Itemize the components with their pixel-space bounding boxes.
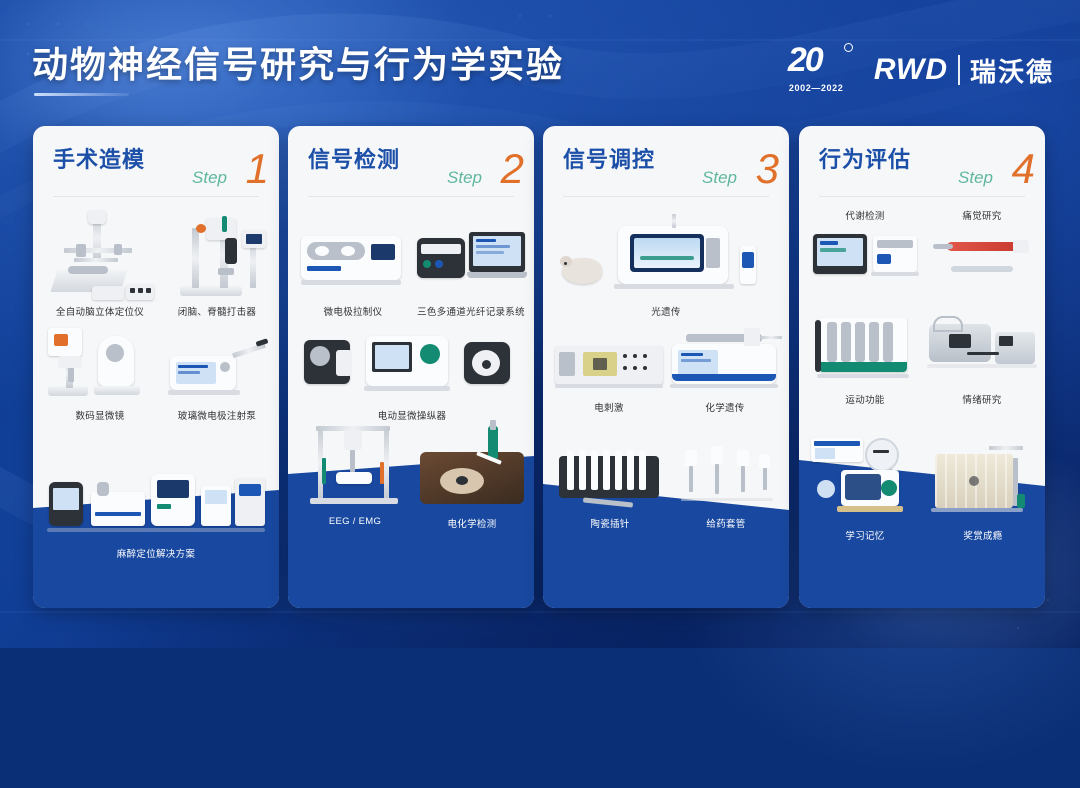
product-label: 陶瓷插针: [551, 516, 669, 530]
step-card-1-step-word: Step: [192, 168, 227, 188]
step-card-4-divider: [819, 196, 1025, 197]
drug-delivery-cannula-icon: [671, 426, 781, 516]
step-card-3-body: 光遗传 电刺激: [543, 204, 789, 608]
chemogenetics-pump-icon: [668, 316, 782, 400]
product-item[interactable]: 电刺激: [551, 316, 667, 414]
digital-microscope-icon: [44, 322, 156, 408]
anniversary-years: 2002—2022: [789, 83, 843, 93]
microelectrode-puller-icon: [297, 212, 409, 304]
product-label: 痛觉研究: [925, 208, 1039, 222]
step-card-4-header: 行为评估 Step 4: [799, 126, 1045, 204]
product-label: 代谢检测: [807, 208, 923, 222]
step-card-4-title: 行为评估: [819, 142, 911, 174]
step-card-2-divider: [308, 196, 514, 197]
microelectrode-injection-pump-icon: [162, 322, 272, 408]
step-card-grid: 手术造模 Step 1: [0, 126, 1080, 612]
brand-name-en: RWD: [874, 53, 948, 87]
product-label: 学习记忆: [805, 528, 925, 542]
step-card-3[interactable]: 信号调控 Step 3: [543, 126, 789, 608]
product-label: 奖赏成瘾: [927, 528, 1039, 542]
step-card-4-step-word: Step: [958, 168, 993, 188]
reward-addiction-icon: [929, 436, 1037, 528]
electrical-stimulator-icon: [553, 316, 665, 400]
brand-logo: 20 2002—2022 RWD 瑞沃德: [786, 40, 1054, 100]
stereotaxic-instrument-icon: [44, 208, 156, 304]
product-item[interactable]: 化学遗传: [667, 316, 783, 414]
anniversary-degree-icon: [844, 43, 853, 52]
product-label: 玻璃微电极注射泵: [161, 408, 273, 422]
step-card-3-divider: [563, 196, 769, 197]
product-label: 麻醉定位解决方案: [41, 546, 271, 560]
optogenetics-system-icon: [554, 208, 778, 304]
step-card-1[interactable]: 手术造模 Step 1: [33, 126, 279, 608]
product-item[interactable]: 代谢检测: [807, 208, 923, 296]
anesthesia-solution-icon: [43, 452, 269, 546]
pain-research-icon: [927, 226, 1037, 296]
product-item[interactable]: 情绪研究: [925, 312, 1039, 406]
step-card-3-step-number: 3: [756, 148, 779, 190]
emotion-research-icon: [927, 312, 1037, 392]
product-label: 闭脑、脊髓打击器: [161, 304, 273, 318]
product-label: 电化学检测: [414, 516, 530, 530]
brain-spinal-impactor-icon: [162, 208, 272, 304]
step-card-3-header: 信号调控 Step 3: [543, 126, 789, 204]
page-title: 动物神经信号研究与行为学实验: [32, 36, 564, 88]
fiber-photometry-system-icon: [413, 212, 529, 304]
title-underline: [34, 93, 129, 96]
product-item[interactable]: 奖赏成瘾: [927, 436, 1039, 542]
step-card-3-title: 信号调控: [563, 142, 655, 174]
product-item[interactable]: 微电极拉制仪: [294, 212, 412, 318]
product-item[interactable]: 数码显微镜: [41, 322, 159, 422]
anniversary-mark: 20 2002—2022: [786, 41, 864, 99]
product-label: EEG / EMG: [294, 516, 416, 527]
step-card-2-step-number: 2: [501, 148, 524, 190]
product-item[interactable]: 光遗传: [553, 208, 779, 318]
product-item[interactable]: 电化学检测: [414, 416, 530, 530]
step-card-3-step-word: Step: [702, 168, 737, 188]
product-item[interactable]: 学习记忆: [805, 436, 925, 542]
product-label: 电刺激: [551, 400, 667, 414]
logo-divider: [958, 55, 960, 85]
product-item[interactable]: 三色多通道光纤记录系统: [412, 212, 530, 318]
step-card-1-body: 全自动脑立体定位仪 闭脑、脊髓打击器: [33, 204, 279, 608]
step-card-2-header: 信号检测 Step 2: [288, 126, 534, 204]
step-card-4-body: 代谢检测 痛觉研究: [799, 204, 1045, 608]
product-label: 给药套管: [669, 516, 783, 530]
brand-name-cn: 瑞沃德: [970, 52, 1054, 89]
product-item[interactable]: 给药套管: [669, 426, 783, 530]
product-label: 运动功能: [807, 392, 923, 406]
ceramic-ferrule-icon: [553, 426, 667, 516]
step-card-1-header: 手术造模 Step 1: [33, 126, 279, 204]
learning-memory-icon: [807, 436, 923, 528]
product-item[interactable]: 闭脑、脊髓打击器: [161, 208, 273, 318]
step-card-4[interactable]: 行为评估 Step 4 代谢检测: [799, 126, 1045, 608]
electrochemical-detection-icon: [416, 416, 528, 516]
step-card-1-step-number: 1: [246, 148, 269, 190]
metabolic-monitoring-icon: [809, 226, 921, 296]
product-label: 数码显微镜: [41, 408, 159, 422]
product-label: 三色多通道光纤记录系统: [412, 304, 530, 318]
step-card-1-title: 手术造模: [53, 142, 145, 174]
product-label: 情绪研究: [925, 392, 1039, 406]
product-item[interactable]: 电动显微操纵器: [294, 320, 530, 422]
product-item[interactable]: 陶瓷插针: [551, 426, 669, 530]
poster-header: 动物神经信号研究与行为学实验 20 2002—2022 RWD 瑞沃德: [0, 0, 1080, 120]
step-card-2-title: 信号检测: [308, 142, 400, 174]
product-label: 全自动脑立体定位仪: [41, 304, 159, 318]
product-item[interactable]: 麻醉定位解决方案: [41, 452, 271, 560]
step-card-2-body: 微电极拉制仪 三色多通道光纤记录系统: [288, 204, 534, 608]
product-item[interactable]: 运动功能: [807, 312, 923, 406]
eeg-emg-rig-icon: [296, 416, 414, 516]
step-card-2-step-word: Step: [447, 168, 482, 188]
product-item[interactable]: EEG / EMG: [294, 416, 416, 527]
anniversary-number: 20: [788, 43, 822, 77]
product-label: 微电极拉制仪: [294, 304, 412, 318]
product-label: 化学遗传: [667, 400, 783, 414]
motor-function-icon: [809, 312, 921, 392]
product-item[interactable]: 全自动脑立体定位仪: [41, 208, 159, 318]
step-card-1-divider: [53, 196, 259, 197]
product-item[interactable]: 痛觉研究: [925, 208, 1039, 296]
step-card-2[interactable]: 信号检测 Step 2 微电极拉制仪: [288, 126, 534, 608]
product-item[interactable]: 玻璃微电极注射泵: [161, 322, 273, 422]
motorized-micromanipulator-icon: [296, 320, 528, 408]
step-card-4-step-number: 4: [1012, 148, 1035, 190]
